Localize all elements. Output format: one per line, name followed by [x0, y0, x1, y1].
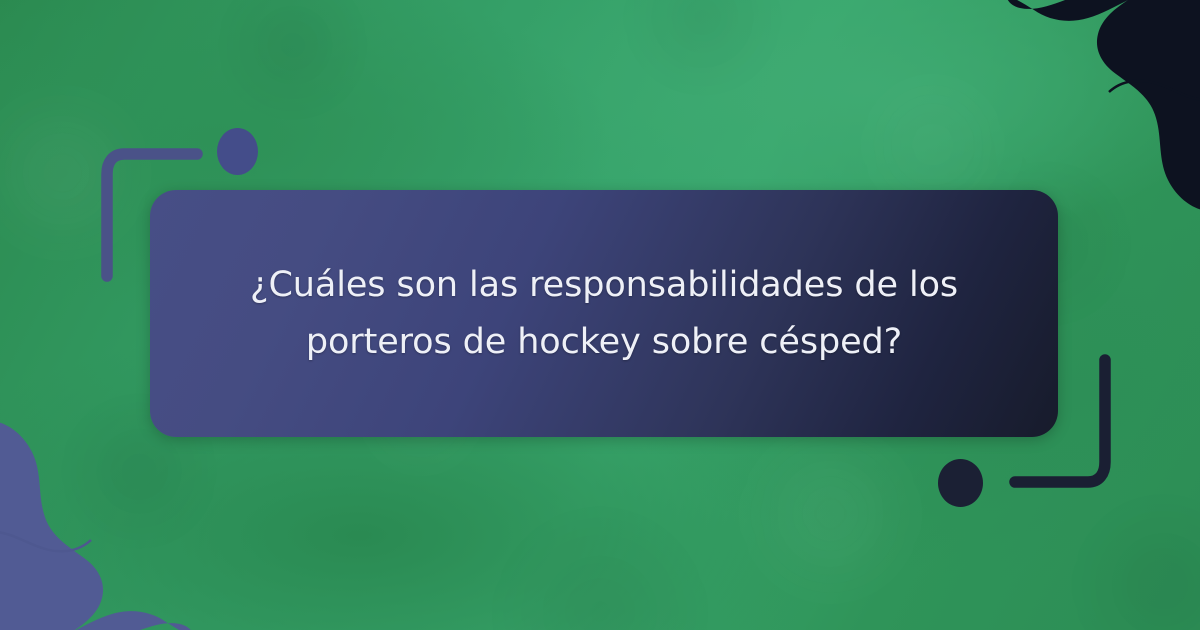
share-card-canvas: ¿Cuáles son las responsabilidades de los… — [0, 0, 1200, 630]
question-title: ¿Cuáles son las responsabilidades de los… — [206, 257, 1002, 370]
question-card: ¿Cuáles son las responsabilidades de los… — [150, 190, 1058, 437]
accent-dot-bottom-right — [938, 459, 983, 507]
accent-dot-top-left — [217, 128, 258, 175]
